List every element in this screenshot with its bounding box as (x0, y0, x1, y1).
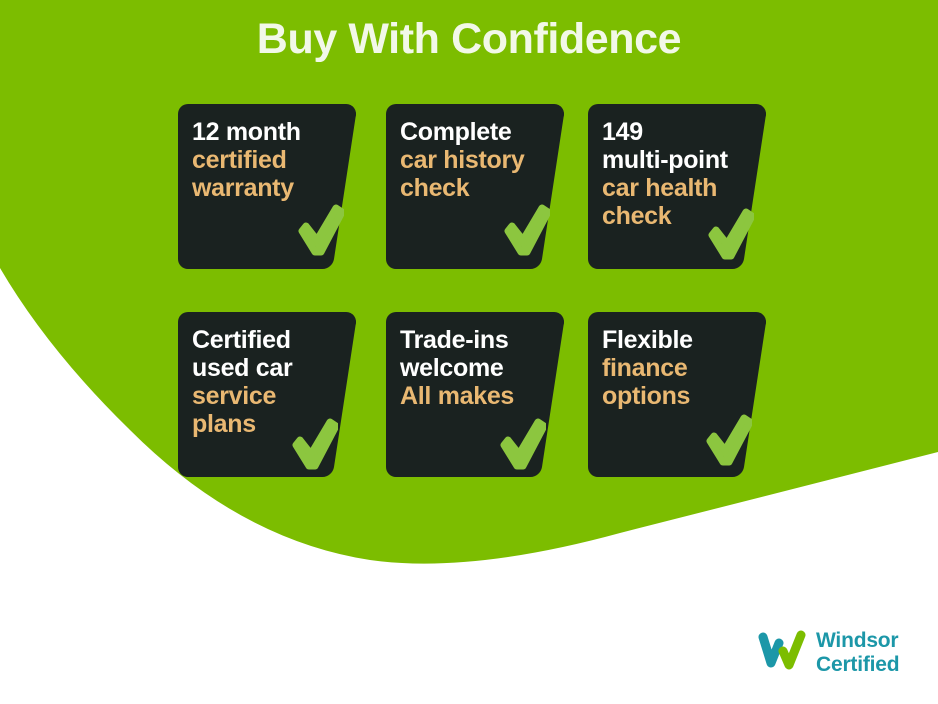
card-text: 12 month certified warranty (192, 118, 336, 202)
check-icon (292, 418, 338, 470)
card-headline-line: 149 (602, 118, 746, 146)
card-subtext-line: car history (400, 146, 544, 174)
windsor-w-icon (757, 629, 807, 677)
card-headline-line: 12 month (192, 118, 336, 146)
brand-name-line2: Certified (816, 653, 899, 677)
poster-canvas: Buy With Confidence 12 month certified w… (0, 0, 938, 704)
card-text: Complete car history check (400, 118, 544, 202)
check-icon (708, 208, 754, 260)
card-subtext-line: check (400, 174, 544, 202)
card-text: Flexible finance options (602, 326, 746, 410)
card-subtext-line: warranty (192, 174, 336, 202)
card-subtext-line: options (602, 382, 746, 410)
card-headline-line: Trade-ins (400, 326, 544, 354)
check-icon (500, 418, 546, 470)
card-headline-line: Flexible (602, 326, 746, 354)
card-headline-line: used car (192, 354, 336, 382)
feature-card[interactable]: Flexible finance options (588, 312, 766, 477)
feature-card[interactable]: Complete car history check (386, 104, 564, 269)
check-icon (298, 204, 344, 256)
feature-card[interactable]: 149 multi-point car health check (588, 104, 766, 269)
card-headline-line: Complete (400, 118, 544, 146)
brand-logo: Windsor Certified (757, 622, 932, 684)
brand-logo-text: Windsor Certified (816, 629, 899, 676)
feature-card[interactable]: Certified used car service plans (178, 312, 356, 477)
card-subtext-line: All makes (400, 382, 544, 410)
feature-card[interactable]: 12 month certified warranty (178, 104, 356, 269)
page-title: Buy With Confidence (0, 16, 938, 63)
check-icon (504, 204, 550, 256)
feature-card-grid: 12 month certified warranty Complete car… (178, 104, 778, 484)
card-subtext-line: finance (602, 354, 746, 382)
feature-card[interactable]: Trade-ins welcome All makes (386, 312, 564, 477)
card-subtext-line: certified (192, 146, 336, 174)
card-text: Trade-ins welcome All makes (400, 326, 544, 410)
brand-name-line1: Windsor (816, 629, 899, 653)
card-subtext-line: service (192, 382, 336, 410)
card-headline-line: Certified (192, 326, 336, 354)
card-subtext-line: car health (602, 174, 746, 202)
card-headline-line: welcome (400, 354, 544, 382)
card-headline-line: multi-point (602, 146, 746, 174)
check-icon (706, 414, 752, 466)
